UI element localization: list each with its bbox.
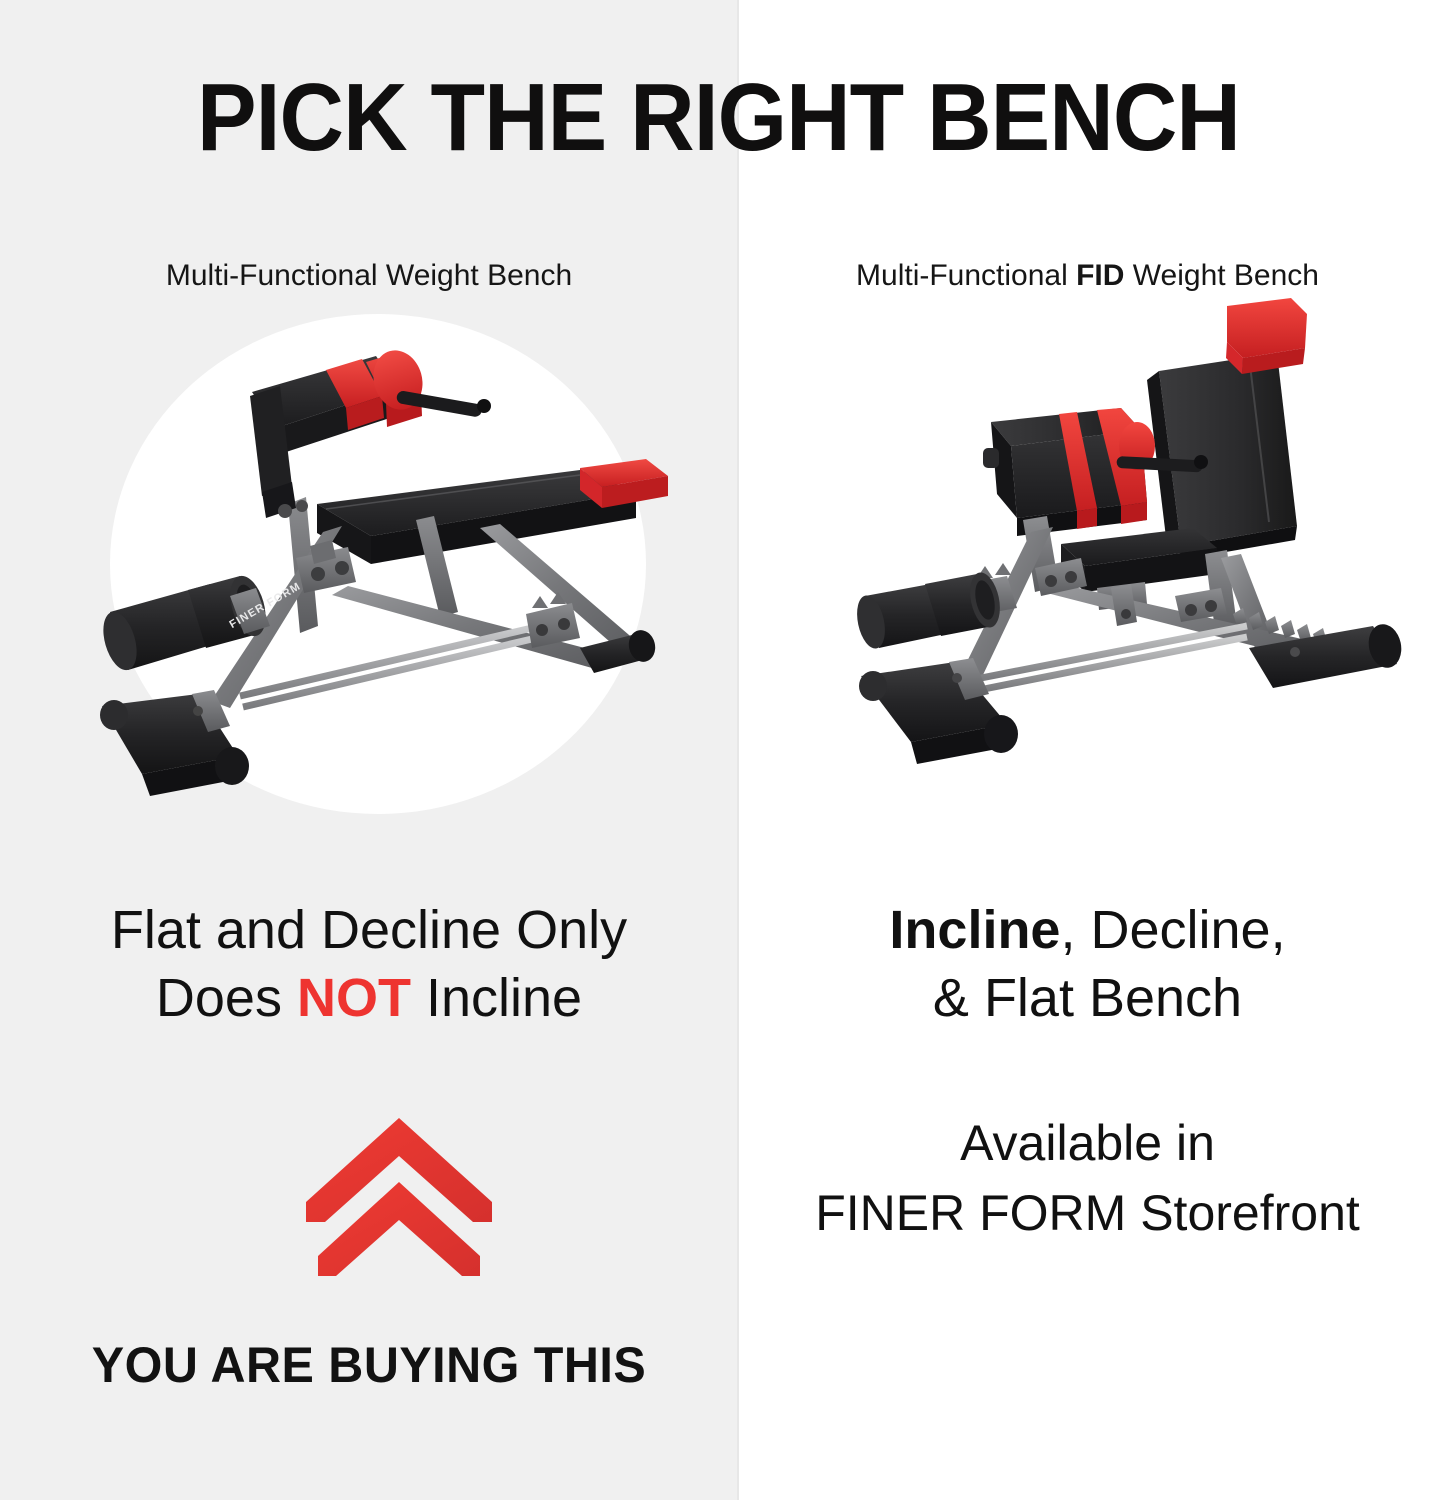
left-product-image: FINER FORM	[80, 296, 680, 836]
right-product-label-suffix: Weight Bench	[1124, 259, 1319, 292]
right-caption-suffix: , Decline,	[1060, 900, 1285, 960]
availability-line-2: FINER FORM Storefront	[738, 1178, 1437, 1248]
right-product-label: Multi-Functional FID Weight Bench	[738, 257, 1437, 295]
right-headrest-pad	[1227, 298, 1307, 358]
left-caption-emphasis: NOT	[297, 968, 411, 1028]
page-title: PICK THE RIGHT BENCH	[50, 68, 1386, 168]
you-are-buying-this-banner: YOU ARE BUYING THIS	[11, 1334, 727, 1396]
panel-divider	[737, 0, 739, 1500]
right-backrest-pad	[1159, 353, 1297, 546]
right-product-label-prefix: Multi-Functional	[856, 259, 1076, 292]
left-caption-line-1: Flat and Decline Only	[0, 896, 738, 964]
right-caption-line-2: & Flat Bench	[738, 964, 1437, 1032]
right-caption-emphasis: Incline	[889, 900, 1060, 960]
left-caption: Flat and Decline Only Does NOT Incline	[0, 896, 738, 1032]
left-caption-line-2: Does NOT Incline	[0, 964, 738, 1032]
left-product-label-text: Multi-Functional Weight Bench	[166, 259, 572, 292]
right-caption: Incline, Decline, & Flat Bench	[738, 896, 1437, 1032]
left-caption-prefix: Does	[156, 968, 297, 1028]
right-product-label-emphasis: FID	[1076, 259, 1124, 292]
left-caption-suffix: Incline	[411, 968, 582, 1028]
left-product-label: Multi-Functional Weight Bench	[0, 257, 738, 295]
availability-line-1: Available in	[738, 1108, 1437, 1178]
availability-note: Available in FINER FORM Storefront	[738, 1108, 1437, 1248]
double-chevron-up-icon	[304, 1116, 494, 1284]
infographic-page: PICK THE RIGHT BENCH Multi-Functional We…	[0, 0, 1437, 1500]
right-caption-line-1: Incline, Decline,	[738, 896, 1437, 964]
right-product-image	[845, 296, 1430, 766]
